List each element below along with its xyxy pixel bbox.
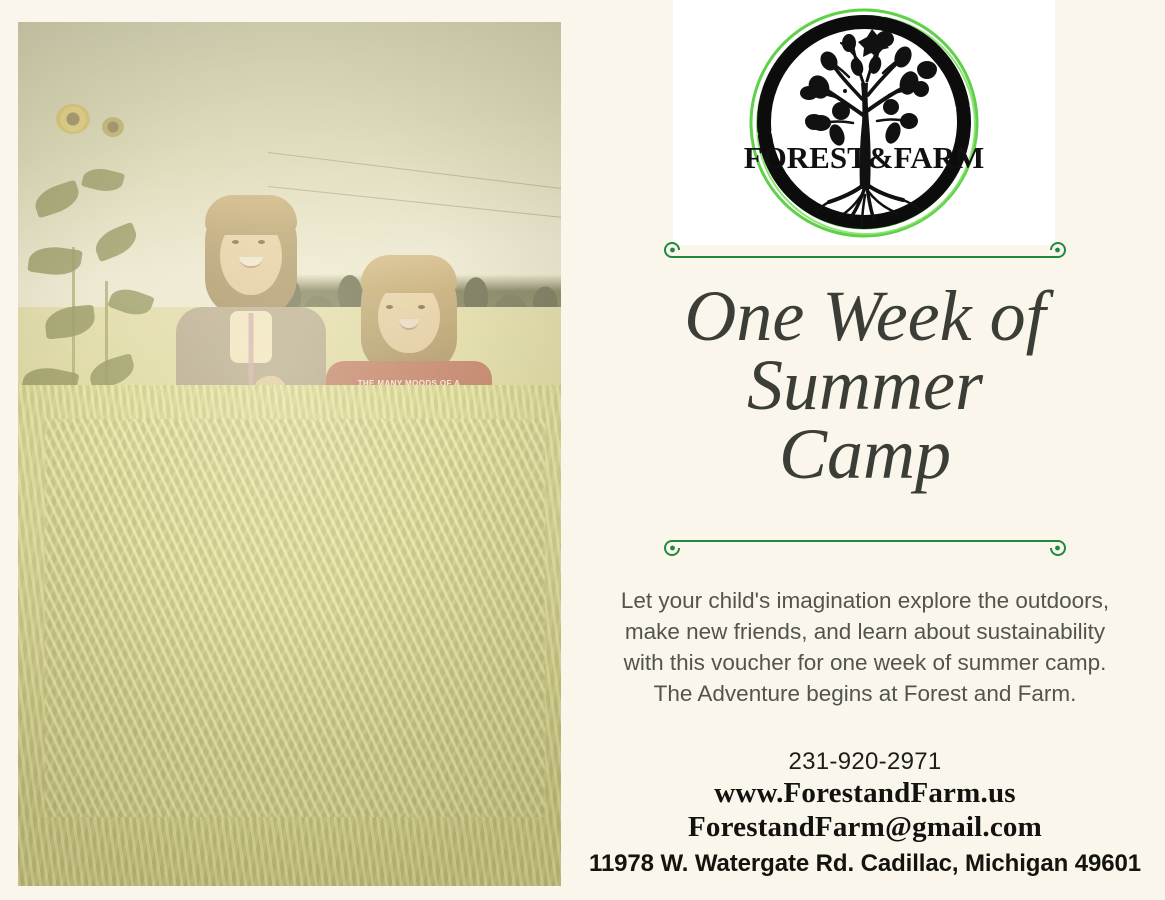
description-line-2: make new friends, and learn about sustai…	[575, 616, 1155, 647]
ornament-divider-bottom	[660, 535, 1070, 557]
forest-and-farm-logo-icon: FOREST&FARM	[741, 3, 987, 243]
headline-line-1: One Week of	[684, 276, 1045, 356]
description-text: Let your child's imagination explore the…	[575, 585, 1155, 709]
girl-eye-right	[258, 240, 265, 244]
contact-address: 11978 W. Watergate Rd. Cadillac, Michiga…	[565, 850, 1165, 879]
svg-text:FOREST&FARM: FOREST&FARM	[744, 140, 985, 175]
voucher-poster: THE MANY MOODS OF A NINJA HAPPY ANGRY TI…	[0, 0, 1165, 900]
carrot-greens-bundle	[45, 419, 545, 816]
logo-container: FOREST&FARM	[673, 0, 1055, 245]
headline-line-3: Camp	[565, 420, 1165, 489]
girl-eye-left	[232, 240, 239, 244]
contact-block: 231-920-2971 www.ForestandFarm.us Forest…	[565, 748, 1165, 879]
boy-bangs	[361, 255, 457, 293]
right-content-column: FOREST&FARM One Week of Summer Camp	[565, 0, 1165, 900]
ornament-divider-top	[660, 240, 1070, 262]
headline-line-2: Summer	[565, 351, 1165, 420]
description-line-3: with this voucher for one week of summer…	[575, 647, 1155, 678]
contact-email[interactable]: ForestandFarm@gmail.com	[565, 810, 1165, 844]
photo-two-children-in-field: THE MANY MOODS OF A NINJA HAPPY ANGRY TI…	[18, 22, 561, 886]
page-title: One Week of Summer Camp	[565, 282, 1165, 489]
contact-website[interactable]: www.ForestandFarm.us	[565, 776, 1165, 810]
girl-bangs	[205, 195, 297, 235]
description-line-4: The Adventure begins at Forest and Farm.	[575, 678, 1155, 709]
description-line-1: Let your child's imagination explore the…	[575, 585, 1155, 616]
contact-phone[interactable]: 231-920-2971	[565, 748, 1165, 776]
sunflower-head	[56, 104, 90, 134]
